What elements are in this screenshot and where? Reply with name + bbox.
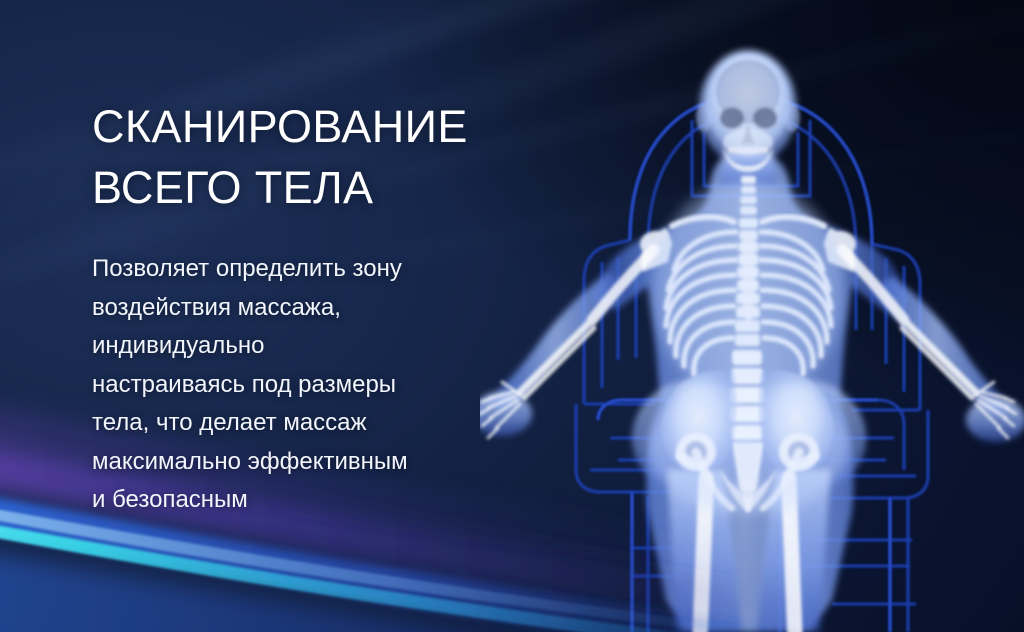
banner-copy: СКАНИРОВАНИЕ ВСЕГО ТЕЛА Позволяет опреде… bbox=[92, 96, 492, 520]
promo-banner: СКАНИРОВАНИЕ ВСЕГО ТЕЛА Позволяет опреде… bbox=[0, 0, 1024, 632]
banner-description: Позволяет определить зону воздействия ма… bbox=[92, 250, 492, 520]
page-title: СКАНИРОВАНИЕ ВСЕГО ТЕЛА bbox=[92, 96, 492, 218]
